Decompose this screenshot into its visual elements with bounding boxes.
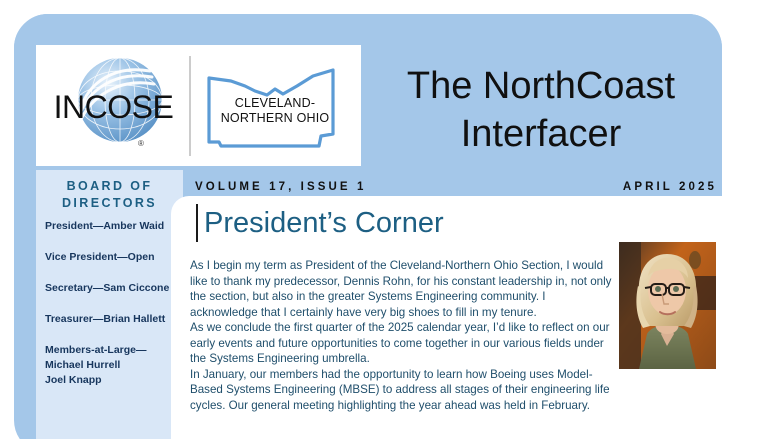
board-heading-line2: DIRECTORS [36, 195, 183, 212]
article-paragraph-2: As we conclude the first quarter of the … [190, 320, 616, 367]
masthead-title: The NorthCoast Interfacer [366, 62, 716, 158]
article-heading-wrap: President’s Corner [196, 204, 444, 242]
article-paragraph-1: As I begin my term as President of the C… [190, 258, 616, 320]
board-entry-member-hurrell: Michael Hurrell [45, 358, 183, 372]
board-entry-president: President—Amber Waid [45, 219, 183, 233]
article-paragraph-3: In January, our members had the opportun… [190, 367, 616, 414]
board-member-list: President—Amber Waid Vice President—Open… [45, 219, 183, 388]
board-of-directors-heading: BOARD OF DIRECTORS [36, 178, 183, 212]
board-entry-vice-president: Vice President—Open [45, 250, 183, 264]
article-body: As I begin my term as President of the C… [190, 258, 616, 413]
volume-bar: VOLUME 17, ISSUE 1 APRIL 2025 [195, 176, 717, 198]
incose-wordmark: INCOSE [42, 89, 185, 126]
volume-issue-text: VOLUME 17, ISSUE 1 [195, 181, 366, 193]
article-heading-rule [196, 204, 198, 242]
newsletter-page: INCOSE ® CLEVELAND- NORTHERN OHIO The No… [0, 0, 761, 439]
portrait-image [619, 242, 716, 369]
board-entry-secretary: Secretary—Sam Ciccone [45, 281, 183, 295]
board-heading-line1: BOARD OF [36, 178, 183, 195]
chapter-logo: CLEVELAND- NORTHERN OHIO [201, 56, 349, 156]
logo-divider [189, 56, 191, 156]
masthead-title-line2: Interfacer [366, 110, 716, 158]
board-entry-treasurer: Treasurer—Brian Hallett [45, 312, 183, 326]
issue-date-text: APRIL 2025 [623, 181, 717, 193]
board-entry-members-at-large-label: Members-at-Large— [45, 343, 183, 357]
board-entry-member-knapp: Joel Knapp [45, 373, 183, 387]
incose-logo: INCOSE ® [42, 53, 185, 158]
article-heading: President’s Corner [204, 204, 444, 242]
chapter-label-line1: CLEVELAND- [201, 96, 349, 111]
logo-box: INCOSE ® CLEVELAND- NORTHERN OHIO [36, 45, 361, 166]
chapter-label-line2: NORTHERN OHIO [201, 111, 349, 126]
president-portrait-photo [619, 242, 716, 369]
masthead-title-line1: The NorthCoast [366, 62, 716, 110]
registered-mark: ® [138, 139, 144, 148]
